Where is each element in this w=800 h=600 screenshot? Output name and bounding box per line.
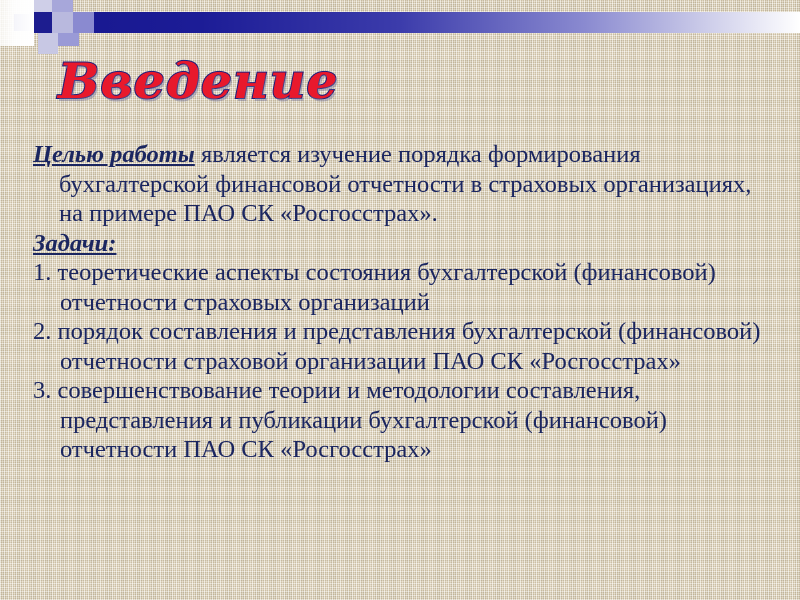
deco-square-light-1 (52, 12, 73, 33)
deco-square-mid-2 (58, 33, 79, 46)
slide-body: Целью работы является изучение порядка ф… (33, 140, 781, 465)
lead-emphasis: Целью работы (33, 141, 195, 168)
deco-square-mid-3 (31, 0, 52, 12)
deco-square-mid-1 (73, 12, 94, 33)
deco-square-dark-1 (31, 12, 52, 33)
top-decoration (0, 0, 800, 46)
deco-square-light-2 (38, 33, 58, 54)
deco-square-light-3 (52, 0, 73, 12)
task-item: 3. совершенствование теории и методологи… (33, 376, 781, 465)
slide-title-text: Введение (58, 52, 478, 110)
slide-title: Введение (58, 52, 478, 114)
task-item: 2. порядок составления и представления б… (33, 317, 781, 376)
banner-left-fade (0, 0, 34, 46)
banner-gradient-bar (31, 12, 800, 33)
tasks-heading: Задачи: (33, 229, 781, 259)
task-item: 1. теоретические аспекты состояния бухга… (33, 258, 781, 317)
lead-paragraph: Целью работы является изучение порядка ф… (33, 140, 781, 229)
tasks-heading-text: Задачи: (33, 230, 116, 257)
